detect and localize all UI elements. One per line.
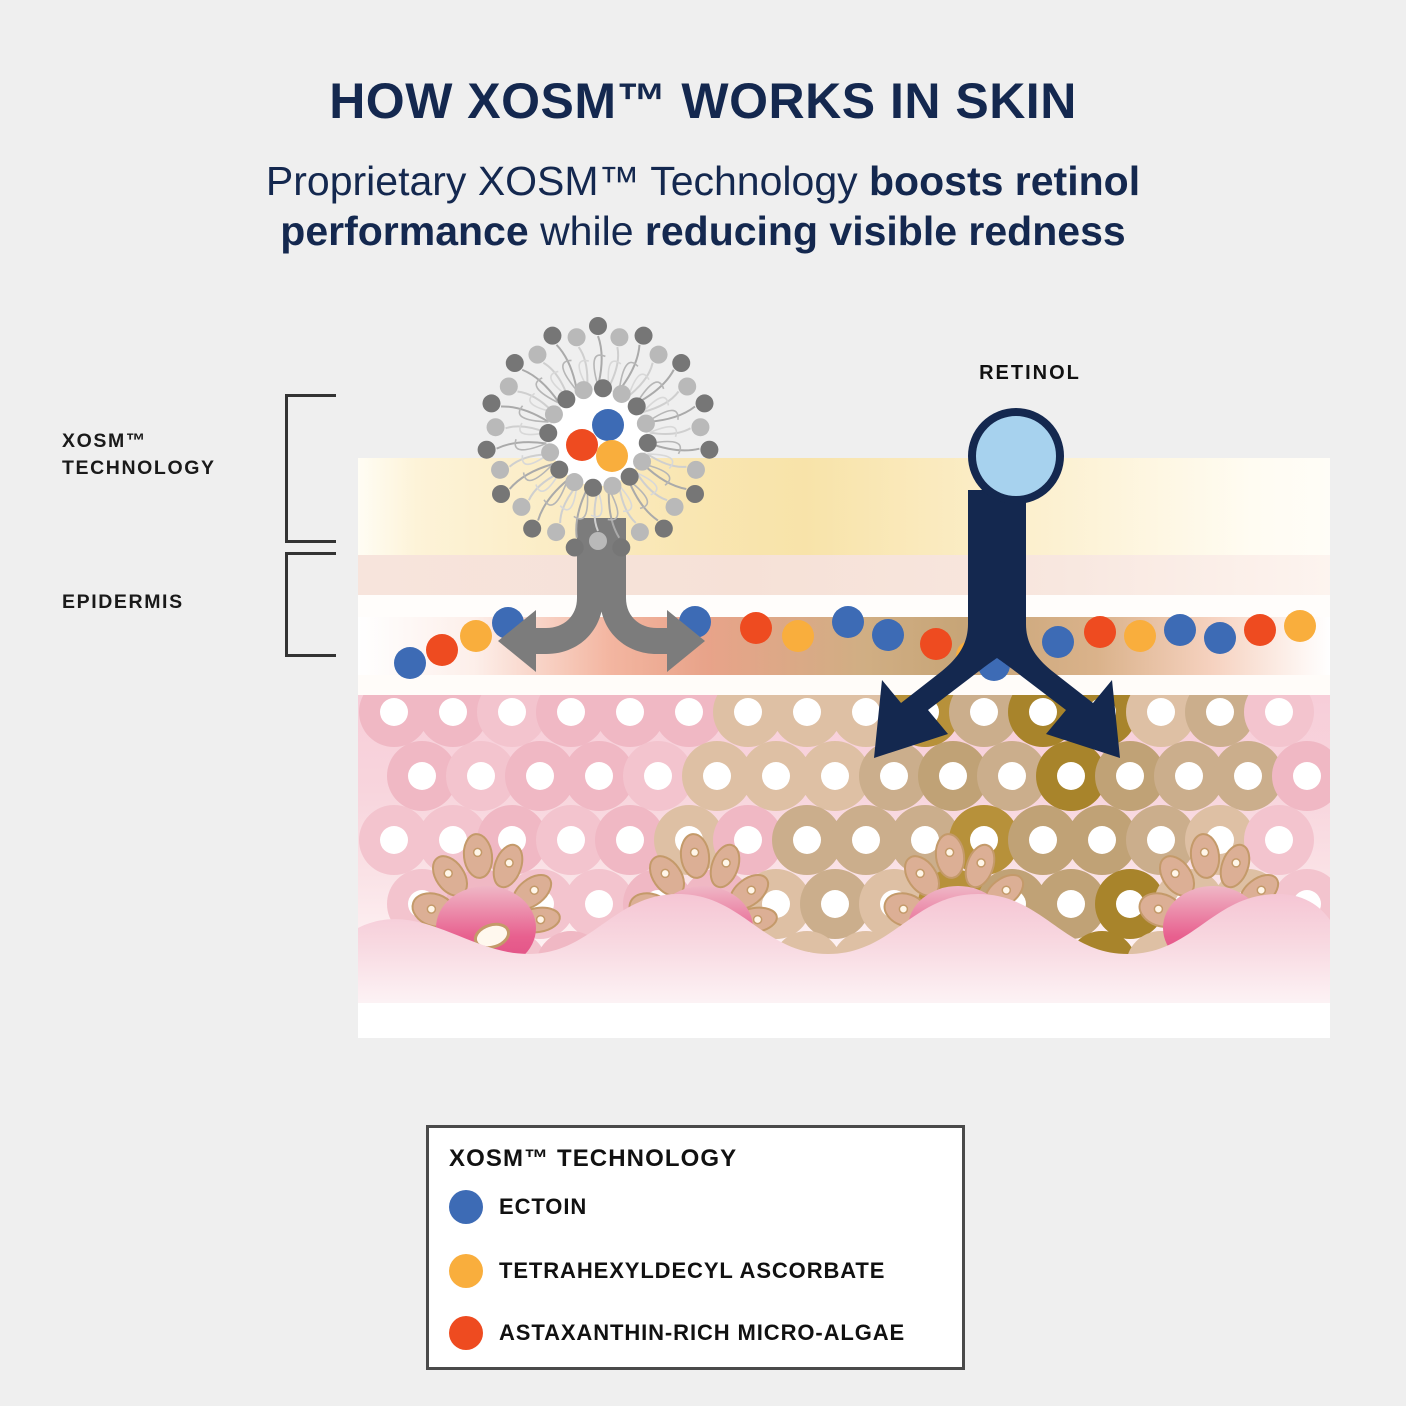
liposome-tail	[637, 473, 667, 500]
liposome-head	[482, 394, 500, 412]
liposome-head-inner	[594, 379, 612, 397]
circle-dot-blue-icon	[449, 1190, 483, 1224]
legend-title: XOSM™ TECHNOLOGY	[449, 1145, 737, 1173]
subtitle-bold-2: reducing visible redness	[645, 208, 1126, 254]
liposome-head-inner	[575, 381, 593, 399]
liposome-tail	[538, 480, 567, 520]
liposome-head-inner	[557, 390, 575, 408]
legend-box: XOSM™ TECHNOLOGY ECTOIN TETRAHEXYLDECYL …	[426, 1125, 965, 1370]
label-epidermis: EPIDERMIS	[62, 589, 282, 616]
liposome-head	[686, 485, 704, 503]
liposome-head-inner	[628, 397, 646, 415]
liposome-head	[650, 346, 668, 364]
circle-dot-red-icon	[449, 1316, 483, 1350]
liposome-head	[631, 523, 649, 541]
liposome-head-inner	[621, 468, 639, 486]
core-particle-ascorbate	[596, 440, 628, 472]
arrow-navy-trident	[874, 490, 1120, 758]
liposome-head-inner	[637, 415, 655, 433]
liposome-head	[523, 520, 541, 538]
liposome-tail	[510, 464, 553, 489]
liposome-head	[487, 418, 505, 436]
liposome-head	[589, 317, 607, 335]
liposome-tail	[629, 480, 658, 520]
legend-label: TETRAHEXYLDECYL ASCORBATE	[499, 1258, 885, 1284]
liposome-head	[492, 485, 510, 503]
liposome-head	[635, 327, 653, 345]
legend-label: ECTOIN	[499, 1194, 587, 1220]
liposome-head-inner	[613, 385, 631, 403]
liposome-head	[678, 378, 696, 396]
liposome-head	[589, 532, 607, 550]
liposome-head	[666, 498, 684, 516]
liposome-head-inner	[541, 443, 559, 461]
liposome-tail	[522, 370, 559, 403]
liposome-head	[512, 498, 530, 516]
liposome-head-inner	[633, 453, 651, 471]
liposome-tail	[557, 345, 577, 391]
bracket-xosm-technology	[285, 394, 336, 543]
liposome-micelle	[470, 310, 726, 566]
liposome-tail	[619, 345, 639, 391]
liposome-head	[543, 327, 561, 345]
liposome-head	[687, 461, 705, 479]
liposome-head	[500, 378, 518, 396]
liposome-head	[478, 441, 496, 459]
liposome-tail	[643, 392, 679, 413]
liposome-head	[547, 523, 565, 541]
bracket-epidermis	[285, 552, 336, 657]
liposome-head	[691, 418, 709, 436]
liposome-head	[655, 520, 673, 538]
liposome-head-inner	[584, 479, 602, 497]
liposome-tail	[497, 442, 547, 449]
core-particle-astaxanthin	[566, 429, 598, 461]
legend-item-ectoin: ECTOIN	[449, 1190, 587, 1224]
liposome-head	[568, 328, 586, 346]
liposome-tail	[650, 443, 700, 450]
page-title: HOW XOSM™ WORKS IN SKIN	[0, 72, 1406, 130]
liposome-tail	[650, 428, 691, 434]
liposome-head-inner	[565, 473, 583, 491]
core-particle-ectoin	[592, 409, 624, 441]
circle-dot-orange-icon	[449, 1254, 483, 1288]
liposome-head	[672, 354, 690, 372]
subtitle-segment-2: while	[529, 208, 645, 254]
liposome-head	[700, 441, 718, 459]
legend-item-astaxanthin: ASTAXANTHIN-RICH MICRO-ALGAE	[449, 1316, 905, 1350]
page-subtitle: Proprietary XOSM™ Technology boosts reti…	[203, 156, 1203, 256]
retinol-molecule-sphere	[964, 404, 1068, 508]
legend-item-ascorbate: TETRAHEXYLDECYL ASCORBATE	[449, 1254, 885, 1288]
legend-label: ASTAXANTHIN-RICH MICRO-ALGAE	[499, 1320, 905, 1346]
liposome-tail	[598, 336, 602, 386]
label-xosm-technology: XOSM™ TECHNOLOGY	[62, 428, 282, 482]
liposome-head	[506, 354, 524, 372]
liposome-head	[566, 539, 584, 557]
liposome-head-inner	[639, 434, 657, 452]
liposome-head	[696, 394, 714, 412]
liposome-head	[610, 328, 628, 346]
liposome-tail	[609, 347, 618, 387]
infographic-root: HOW XOSM™ WORKS IN SKIN Proprietary XOSM…	[0, 0, 1406, 1406]
liposome-head-inner	[603, 477, 621, 495]
liposome-head	[528, 346, 546, 364]
liposome-head-inner	[545, 405, 563, 423]
liposome-head-inner	[550, 461, 568, 479]
label-retinol: RETINOL	[900, 362, 1160, 385]
liposome-head	[491, 461, 509, 479]
liposome-head	[612, 539, 630, 557]
liposome-head-inner	[539, 424, 557, 442]
subtitle-segment-1: Proprietary XOSM™ Technology	[266, 158, 869, 204]
